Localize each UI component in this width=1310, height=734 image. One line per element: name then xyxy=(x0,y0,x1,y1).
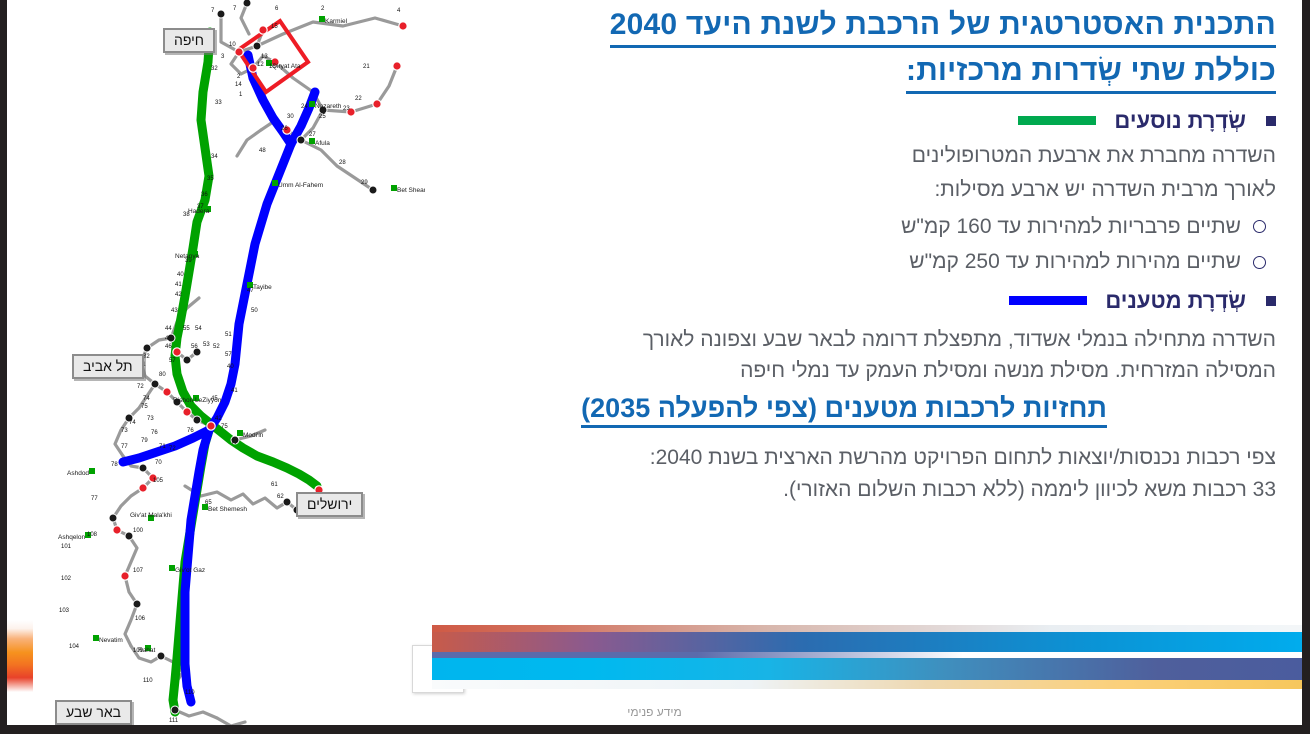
svg-text:52: 52 xyxy=(213,344,220,350)
city-chip-haifa: חיפה xyxy=(163,28,215,53)
svg-text:57: 57 xyxy=(225,352,232,358)
green-line-swatch xyxy=(1018,116,1096,125)
svg-text:42: 42 xyxy=(215,416,222,422)
svg-text:108: 108 xyxy=(87,532,98,538)
svg-text:76: 76 xyxy=(151,430,158,436)
svg-text:24: 24 xyxy=(301,104,308,110)
forecast-paragraph: צפי רכבות נכנסות/יוצאות לתחום הפרויקט מה… xyxy=(402,442,1292,507)
svg-text:78: 78 xyxy=(111,462,118,468)
passengers-subitem-2-text: שתיים מהירות למהירות עד 250 קמ"ש xyxy=(909,247,1241,277)
freight-line-2: המסילה המזרחית. מסילת מנשה ומסילת העמק ע… xyxy=(402,355,1292,387)
svg-text:101: 101 xyxy=(61,544,72,550)
svg-text:23: 23 xyxy=(343,106,350,112)
map-place-label: Afula xyxy=(315,140,330,147)
svg-text:62: 62 xyxy=(277,494,284,500)
svg-text:103: 103 xyxy=(59,608,70,614)
city-chip-tel-aviv: תל אביב xyxy=(72,354,144,379)
svg-text:74: 74 xyxy=(143,396,150,402)
svg-text:46: 46 xyxy=(165,344,172,350)
map-place-label: Hadera xyxy=(188,208,209,215)
square-bullet-icon xyxy=(1266,296,1276,306)
svg-text:36: 36 xyxy=(201,192,208,198)
bar-stripe-2 xyxy=(432,632,1310,652)
section-heading-freight: שְׂדְרָת מטענים xyxy=(402,288,1292,314)
footer-classification-note: מידע פנימי xyxy=(7,705,1302,719)
svg-text:40: 40 xyxy=(227,364,234,370)
svg-text:55: 55 xyxy=(183,326,190,332)
map-place-label: Netanya xyxy=(175,253,199,260)
svg-text:10: 10 xyxy=(229,42,236,48)
slide-title-line1: התכנית האסטרטגית של הרכבת לשנת היעד 2040 xyxy=(610,6,1276,48)
passengers-subitem-1-text: שתיים פרבריות למהירות עד 160 קמ"ש xyxy=(901,212,1241,242)
svg-text:106: 106 xyxy=(135,616,146,622)
svg-text:56: 56 xyxy=(191,344,198,350)
svg-text:40: 40 xyxy=(177,272,184,278)
map-place-label: Qiryat Ata xyxy=(272,63,301,70)
city-chip-jerusalem: ירושלים xyxy=(296,492,363,517)
slide-title-line1-wrap: התכנית האסטרטגית של הרכבת לשנת היעד 2040 xyxy=(402,0,1292,48)
svg-text:45: 45 xyxy=(165,336,172,342)
section-heading-passengers: שְׂדְרָת נוסעים xyxy=(402,108,1292,134)
map-place-label: Tayibe xyxy=(253,284,272,291)
presentation-slide: 776 24 101516 332 13122 114 212223 24252… xyxy=(0,0,1310,734)
passengers-line-2: לאורך מרבית השדרה יש ארבע מסילות: xyxy=(402,174,1292,207)
svg-text:32: 32 xyxy=(211,66,218,72)
svg-text:77: 77 xyxy=(91,496,98,502)
slide-title-line2: כוללת שתי שְׂדרות מרכזיות: xyxy=(906,52,1276,94)
svg-text:4: 4 xyxy=(397,8,401,14)
map-place-label: Giv'at Mala'khi xyxy=(130,512,172,519)
svg-text:15: 15 xyxy=(271,24,278,30)
svg-text:25: 25 xyxy=(319,114,326,120)
svg-text:30: 30 xyxy=(287,114,294,120)
svg-text:57: 57 xyxy=(169,358,176,364)
passengers-subitem-1: שתיים פרבריות למהירות עד 160 קמ"ש xyxy=(402,212,1292,242)
svg-text:75: 75 xyxy=(141,404,148,410)
svg-text:14: 14 xyxy=(235,82,242,88)
svg-text:102: 102 xyxy=(61,576,72,582)
svg-text:6: 6 xyxy=(275,6,279,12)
map-place-label: Giv'ot Gaz xyxy=(175,567,205,574)
svg-text:110: 110 xyxy=(143,678,153,684)
svg-text:13: 13 xyxy=(261,54,268,60)
map-place-label: Karmiel xyxy=(325,18,347,25)
svg-text:100: 100 xyxy=(133,528,144,534)
svg-text:80: 80 xyxy=(159,372,166,378)
svg-text:44: 44 xyxy=(165,326,172,332)
svg-text:1: 1 xyxy=(239,92,243,98)
svg-text:77: 77 xyxy=(121,444,128,450)
settlement-marker xyxy=(85,16,425,651)
svg-text:12: 12 xyxy=(257,62,264,68)
map-place-label: Modi'in xyxy=(243,432,263,439)
closing-line-2: 33 רכבות משא לכיוון לימ​מה (ללא רכבות הש… xyxy=(402,474,1292,507)
svg-text:77: 77 xyxy=(231,440,238,446)
square-bullet-icon xyxy=(1266,116,1276,126)
svg-text:54: 54 xyxy=(195,326,202,332)
section-label-freight: שְׂדְרָת מטענים xyxy=(1105,288,1246,314)
svg-text:2: 2 xyxy=(321,6,325,12)
closing-line-1: צפי רכבות נכנסות/יוצאות לתחום הפרויקט מה… xyxy=(402,442,1292,475)
svg-text:76: 76 xyxy=(187,428,194,434)
svg-text:35: 35 xyxy=(207,176,214,182)
bar-stripe-4 xyxy=(432,658,1310,680)
freight-paragraph: השדרה מתחילה בנמלי אשדוד, מתפצלת דרומה ל… xyxy=(402,324,1292,387)
svg-text:71: 71 xyxy=(159,444,166,450)
svg-text:74: 74 xyxy=(129,420,136,426)
svg-text:29: 29 xyxy=(361,180,368,186)
svg-text:70: 70 xyxy=(155,460,162,466)
svg-text:79: 79 xyxy=(141,438,148,444)
svg-text:41: 41 xyxy=(175,282,182,288)
svg-text:104: 104 xyxy=(69,644,80,650)
svg-text:22: 22 xyxy=(355,96,362,102)
svg-text:53: 53 xyxy=(203,342,210,348)
circle-bullet-icon xyxy=(1253,256,1266,269)
passengers-line-1: השדרה מחברת את ארבעת המטרופולינים xyxy=(402,140,1292,173)
svg-text:42: 42 xyxy=(175,292,182,298)
map-place-label: Umm Al-Fahem xyxy=(278,182,323,189)
road-network xyxy=(113,3,403,726)
map-place-label: Rishon LeZiyyon xyxy=(173,397,221,404)
forecast-subtitle: תחזיות לרכבות מטענים (צפי להפעלה 2035) xyxy=(581,393,1107,428)
svg-text:61: 61 xyxy=(271,482,278,488)
svg-text:43: 43 xyxy=(171,308,178,314)
svg-text:72: 72 xyxy=(169,446,176,452)
decorative-color-bars xyxy=(432,617,1310,695)
svg-text:21: 21 xyxy=(363,64,370,70)
svg-text:107: 107 xyxy=(133,568,144,574)
svg-text:73: 73 xyxy=(147,416,154,422)
svg-text:7: 7 xyxy=(211,8,215,14)
svg-text:34: 34 xyxy=(211,154,218,160)
svg-text:105: 105 xyxy=(153,478,164,484)
blue-line-swatch xyxy=(1009,296,1087,305)
circle-bullet-icon xyxy=(1253,220,1266,233)
map-place-label: Ashqelon xyxy=(58,534,85,541)
svg-text:3: 3 xyxy=(221,54,225,60)
map-place-label: Rahat xyxy=(138,647,155,654)
svg-text:75: 75 xyxy=(221,424,228,430)
railway-network-map: 776 24 101516 332 13122 114 212223 24252… xyxy=(25,0,425,734)
svg-text:7: 7 xyxy=(233,6,237,12)
bar-stripe-5 xyxy=(432,680,1310,689)
svg-text:48: 48 xyxy=(259,148,266,154)
svg-text:50: 50 xyxy=(251,308,258,314)
svg-text:28: 28 xyxy=(339,160,346,166)
svg-text:26: 26 xyxy=(281,126,288,132)
forecast-subtitle-wrap: תחזיות לרכבות מטענים (צפי להפעלה 2035) xyxy=(402,389,1292,428)
svg-text:51: 51 xyxy=(225,332,232,338)
svg-text:33: 33 xyxy=(215,100,222,106)
slide-title-line2-wrap: כוללת שתי שְׂדרות מרכזיות: xyxy=(402,48,1292,94)
map-place-label: Ashdod xyxy=(67,470,89,477)
svg-text:73: 73 xyxy=(121,428,128,434)
svg-text:41: 41 xyxy=(231,388,238,394)
section-label-passengers: שְׂדְרָת נוסעים xyxy=(1114,108,1246,134)
svg-text:82: 82 xyxy=(143,354,150,360)
freight-corridor-blue xyxy=(123,55,315,702)
svg-text:110: 110 xyxy=(185,690,195,696)
freight-line-1: השדרה מתחילה בנמלי אשדוד, מתפצלת דרומה ל… xyxy=(402,324,1292,356)
map-place-label: Nazareth xyxy=(315,103,341,110)
passengers-subitem-2: שתיים מהירות למהירות עד 250 קמ"ש xyxy=(402,247,1292,277)
map-place-label: Nevatim xyxy=(99,637,123,644)
bar-stripe-1 xyxy=(432,625,1310,632)
svg-text:72: 72 xyxy=(137,384,144,390)
map-place-label: Bet Shemesh xyxy=(208,506,247,513)
svg-text:27: 27 xyxy=(309,132,316,138)
